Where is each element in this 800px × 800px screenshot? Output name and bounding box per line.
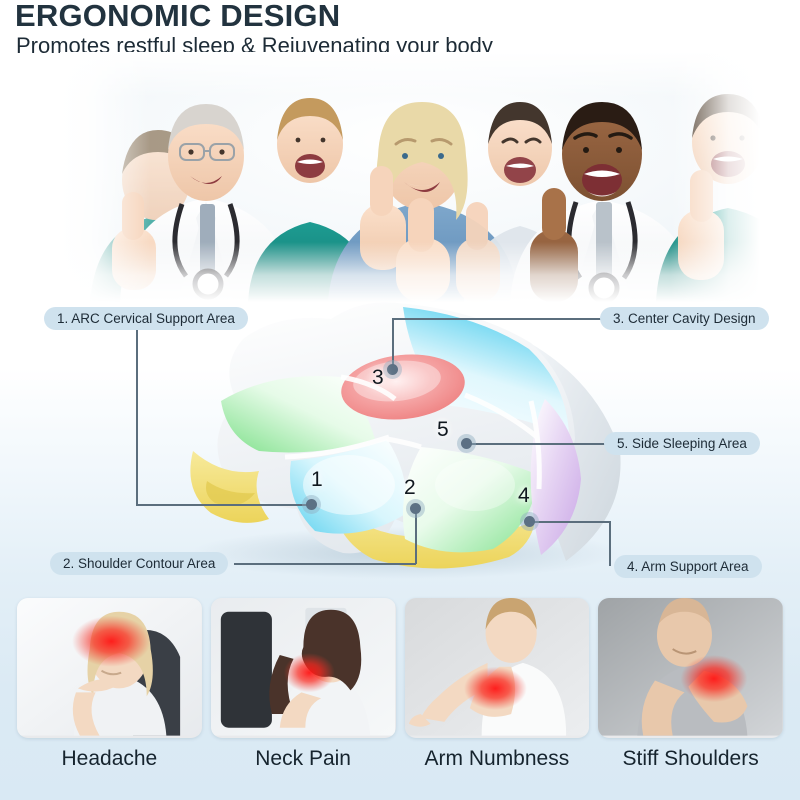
neck-pain-photo bbox=[211, 598, 396, 736]
caption-stiff-shoulders: Stiff Shoulders bbox=[598, 742, 783, 782]
callout-4-number: 4 bbox=[518, 484, 530, 508]
callout-5-dot[interactable] bbox=[461, 438, 472, 449]
callout-label-5[interactable]: 5. Side Sleeping Area bbox=[604, 432, 760, 455]
callout-1-number: 1 bbox=[311, 468, 323, 492]
callout-label-4[interactable]: 4. Arm Support Area bbox=[614, 555, 762, 578]
callout-3-number: 3 bbox=[372, 366, 384, 390]
arm-numbness-photo bbox=[405, 598, 590, 736]
problem-cards-row bbox=[17, 598, 783, 738]
callout-2-line-v bbox=[415, 509, 417, 564]
callout-3-line-h bbox=[392, 318, 602, 320]
callout-5-number: 5 bbox=[437, 418, 449, 442]
photo-fade-top bbox=[60, 52, 760, 98]
callout-4-line-v bbox=[609, 521, 611, 566]
caption-neck-pain: Neck Pain bbox=[211, 742, 396, 782]
callout-2-dot[interactable] bbox=[410, 503, 421, 514]
callout-1-line-v bbox=[136, 330, 138, 505]
callout-1-line-h bbox=[136, 504, 312, 506]
photo-fade-right bbox=[670, 52, 760, 302]
problem-captions-row: Headache Neck Pain Arm Numbness Stiff Sh… bbox=[17, 742, 783, 782]
photo-fade-left bbox=[60, 52, 150, 302]
callout-label-2[interactable]: 2. Shoulder Contour Area bbox=[50, 552, 228, 575]
page-title: ERGONOMIC DESIGN bbox=[15, 0, 340, 34]
callout-4-line-h bbox=[530, 521, 610, 523]
callout-5-line-h bbox=[468, 443, 606, 445]
problem-card-neck-pain[interactable] bbox=[211, 598, 396, 738]
callout-3-line-v bbox=[392, 318, 394, 370]
callout-3-dot[interactable] bbox=[387, 364, 398, 375]
medical-professionals-photo bbox=[60, 52, 760, 302]
problem-card-stiff-shoulders[interactable] bbox=[598, 598, 783, 738]
caption-arm-numbness: Arm Numbness bbox=[405, 742, 590, 782]
problem-card-arm-numbness[interactable] bbox=[405, 598, 590, 738]
callout-2-line-h bbox=[234, 563, 416, 565]
callout-label-3[interactable]: 3. Center Cavity Design bbox=[600, 307, 769, 330]
callout-2-number: 2 bbox=[404, 476, 416, 500]
problem-card-headache[interactable] bbox=[17, 598, 202, 738]
callout-4-dot[interactable] bbox=[524, 516, 535, 527]
caption-headache: Headache bbox=[17, 742, 202, 782]
pillow-illustration bbox=[135, 285, 665, 585]
infographic-page: ERGONOMIC DESIGN Promotes restful sleep … bbox=[0, 0, 800, 800]
callout-label-1[interactable]: 1. ARC Cervical Support Area bbox=[44, 307, 248, 330]
callout-1-dot[interactable] bbox=[306, 499, 317, 510]
stiff-shoulders-photo bbox=[598, 598, 783, 736]
headache-photo bbox=[17, 598, 202, 736]
